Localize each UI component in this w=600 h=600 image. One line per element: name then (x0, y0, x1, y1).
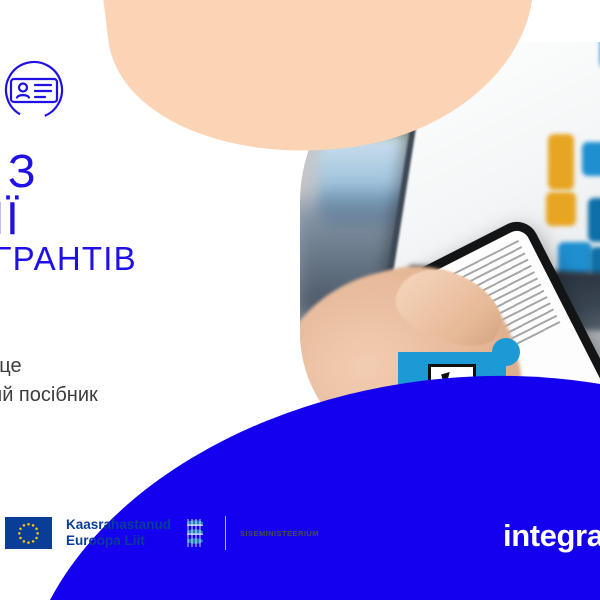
eu-funding-line-1: Kaasrahastanud (66, 517, 171, 533)
description-line-1: аптації - це (0, 352, 288, 381)
page-title-line-2: ТАЦІЇ (0, 195, 316, 242)
european-union-flag (5, 517, 52, 549)
brand-wordmark: integra (503, 518, 600, 554)
promo-slide: integra НИК З ТАЦІЇ ИХ МІГРАНТІВ аптації… (0, 0, 600, 600)
photo-screen-square-orange-1 (548, 134, 574, 190)
description-text: аптації - це рактичний посібник рантів (0, 352, 288, 439)
funding-logo-strip: Kaasrahastanud Euroopa Liit (5, 516, 319, 550)
description-line-3: рантів (0, 410, 288, 439)
left-content-column: НИК З ТАЦІЇ ИХ МІГРАНТІВ аптації - це ра… (0, 0, 300, 600)
eu-funding-line-2: Euroopa Liit (66, 533, 171, 549)
page-title-line-3: ИХ МІГРАНТІВ (0, 242, 316, 276)
page-title: НИК З ТАЦІЇ ИХ МІГРАНТІВ (0, 148, 316, 275)
logo-divider (225, 516, 226, 550)
photo-screen-square-blue-1 (582, 142, 600, 176)
ministry-label: SISEMINISTEERIUM (240, 529, 319, 538)
photo-screen-square-orange-2 (546, 192, 576, 226)
id-card-circle-icon (2, 58, 66, 122)
photo-screen-square-blue-2 (588, 198, 600, 242)
eu-funding-label: Kaasrahastanud Euroopa Liit (66, 517, 171, 550)
page-title-line-1: НИК З (0, 148, 316, 195)
estonian-coat-of-arms-three-lions (185, 518, 211, 548)
description-line-2: рактичний посібник (0, 381, 288, 410)
